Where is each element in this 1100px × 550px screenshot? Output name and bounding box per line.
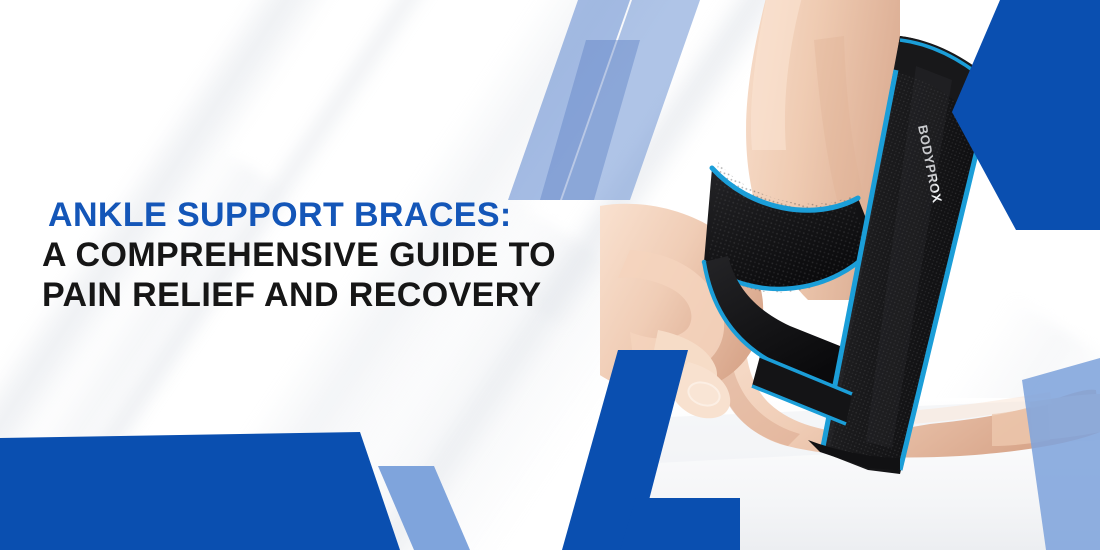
page-title: ANKLE SUPPORT BRACES: A COMPREHENSIVE GU… <box>40 196 600 315</box>
headline-line-3: PAIN RELIEF AND RECOVERY <box>40 276 600 316</box>
headline-line-1: ANKLE SUPPORT BRACES: <box>40 196 600 236</box>
hero-banner: BODYPROX ANKLE SUPPORT <box>0 0 1100 550</box>
product-photo: BODYPROX <box>600 0 1100 550</box>
headline-line-2: A COMPREHENSIVE GUIDE TO <box>40 236 600 276</box>
